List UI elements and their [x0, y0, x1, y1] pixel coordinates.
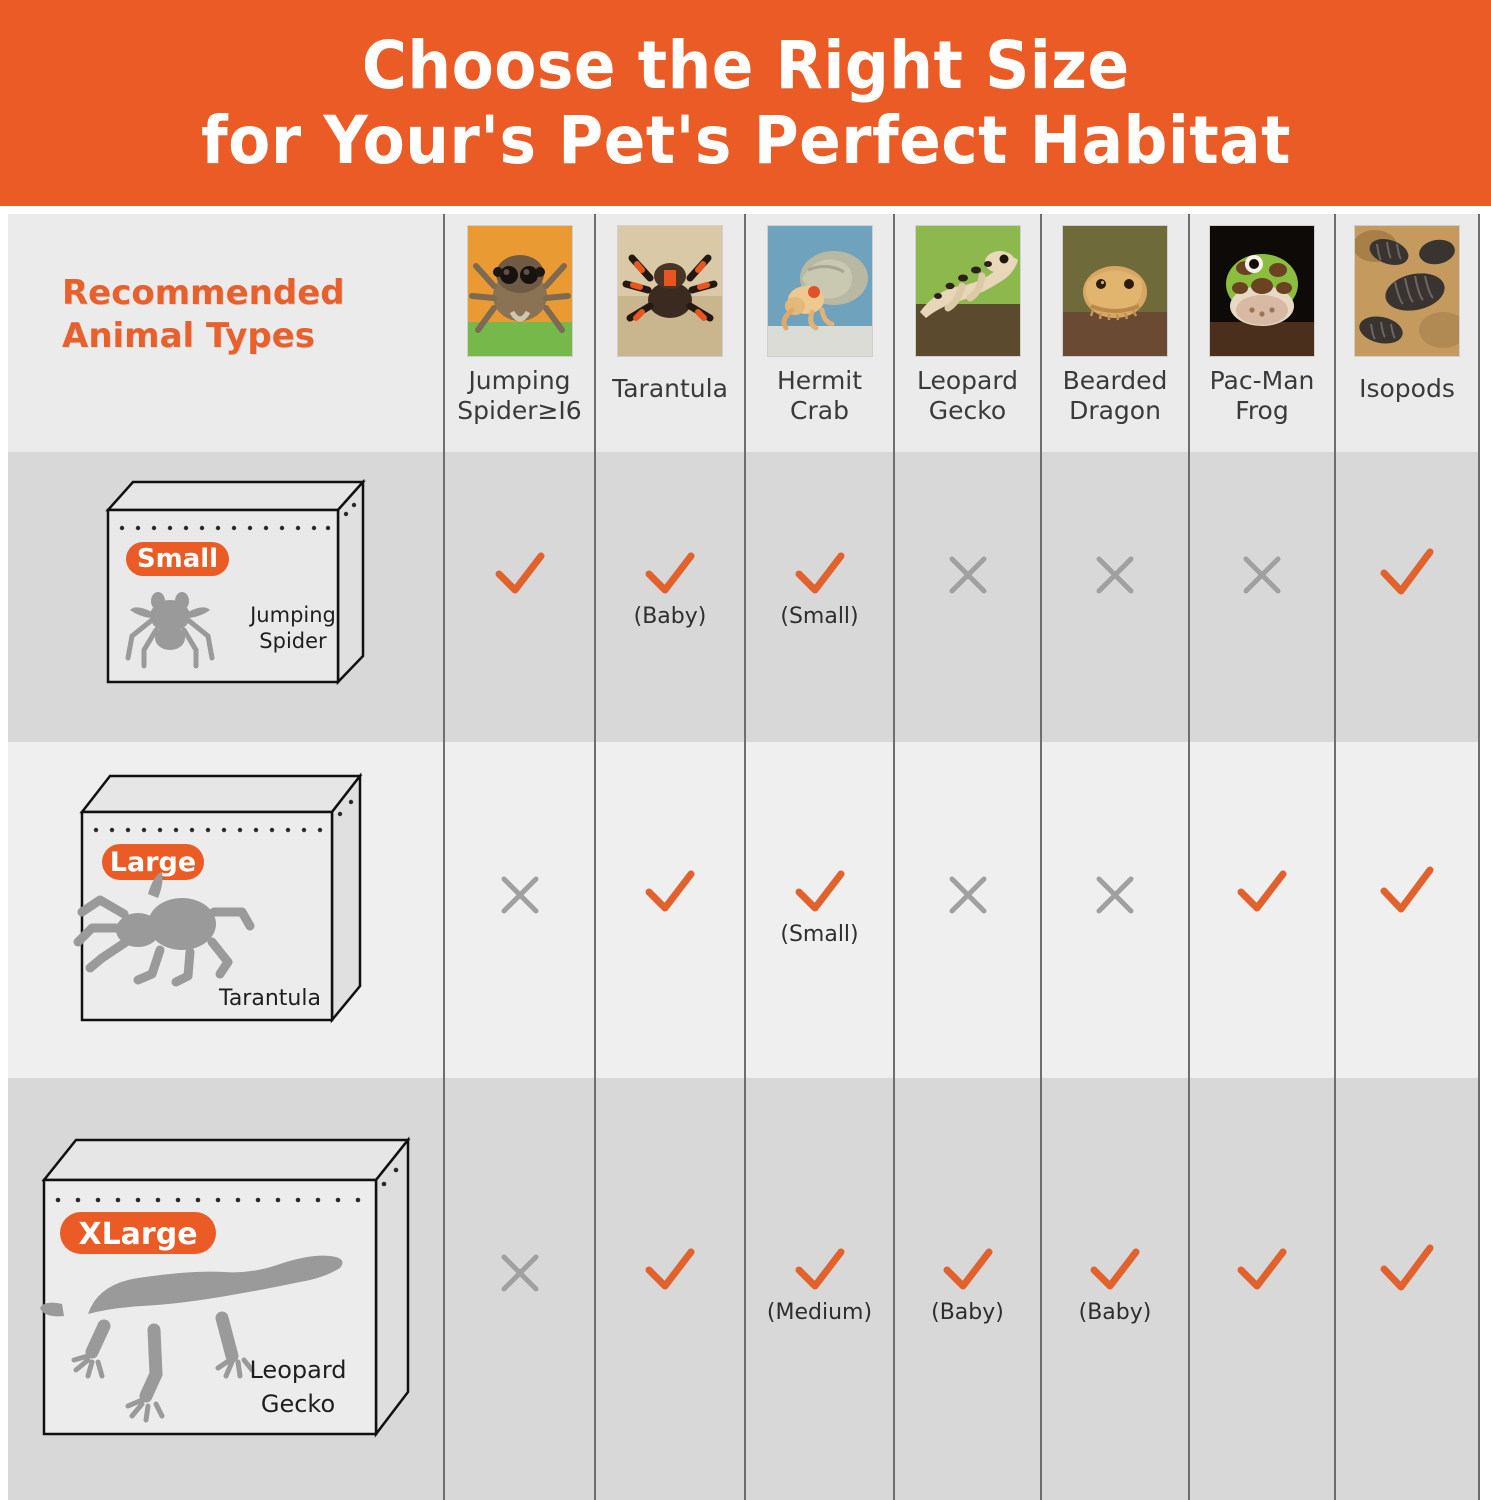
- cell-xlarge-hermit-crab: (Medium): [746, 1244, 893, 1325]
- recommended-animal-types-title: Recommended Animal Types: [62, 272, 392, 357]
- column-separator-1: [443, 214, 445, 1500]
- column-header-leopard-gecko: Leopard Gecko: [895, 214, 1040, 444]
- column-header-isopods: Isopods: [1336, 214, 1478, 444]
- size-badge-xlarge: XLarge: [78, 1217, 197, 1252]
- cell-large-jumping-spider: [445, 872, 594, 922]
- box-animal-label-small-line2: Spider: [259, 629, 327, 653]
- box-animal-label-small-line1: Jumping: [248, 603, 336, 627]
- check-icon: [641, 1244, 699, 1296]
- cross-icon: [1090, 872, 1140, 918]
- cell-small-bearded-dragon: [1042, 552, 1188, 602]
- check-icon: [1233, 866, 1291, 918]
- tarantula-photo: [617, 225, 723, 357]
- check-icon: [1086, 1244, 1144, 1296]
- left-title-line-1: Recommended: [62, 272, 392, 315]
- column-label-jumping-spider: Jumping Spider≥I6: [445, 366, 594, 425]
- cross-icon: [1090, 552, 1140, 598]
- column-separator-3: [744, 214, 746, 1500]
- column-label-leopard-gecko: Leopard Gecko: [895, 366, 1040, 425]
- cell-small-tarantula: (Baby): [596, 548, 744, 629]
- cell-xlarge-bearded-dragon: (Baby): [1042, 1244, 1188, 1325]
- column-separator-2: [594, 214, 596, 1500]
- column-label-pac-man-frog: Pac-Man Frog: [1190, 366, 1334, 425]
- column-separator-4: [893, 214, 895, 1500]
- column-header-hermit-crab: Hermit Crab: [746, 214, 893, 444]
- cell-note: (Baby): [596, 604, 744, 629]
- leopard-gecko-photo: [915, 225, 1021, 357]
- cross-icon: [943, 552, 993, 598]
- cell-note: (Small): [746, 922, 893, 947]
- column-label-isopods: Isopods: [1336, 374, 1478, 404]
- cell-large-leopard-gecko: [895, 872, 1040, 922]
- box-animal-label-xlarge-line1: Leopard: [249, 1356, 346, 1384]
- check-icon: [791, 548, 849, 600]
- column-separator-7: [1334, 214, 1336, 1500]
- hermit-crab-photo: [767, 225, 873, 357]
- check-icon: [939, 1244, 997, 1296]
- banner-title-line-1: Choose the Right Size: [362, 32, 1130, 99]
- column-header-pac-man-frog: Pac-Man Frog: [1190, 214, 1334, 444]
- column-label-bearded-dragon: Bearded Dragon: [1042, 366, 1188, 425]
- cell-large-bearded-dragon: [1042, 872, 1188, 922]
- check-icon: [641, 548, 699, 600]
- cell-small-leopard-gecko: [895, 552, 1040, 602]
- jumping-spider-photo: [467, 225, 573, 357]
- cell-note: (Medium): [746, 1300, 893, 1325]
- cell-large-hermit-crab: (Small): [746, 866, 893, 947]
- check-icon: [1375, 862, 1439, 920]
- check-icon: [791, 866, 849, 918]
- box-animal-label-large: Tarantula: [218, 986, 321, 1011]
- check-icon: [641, 866, 699, 918]
- column-header-tarantula: Tarantula: [596, 214, 744, 444]
- check-icon: [491, 548, 549, 600]
- cell-note: (Baby): [895, 1300, 1040, 1325]
- left-gutter: [0, 206, 8, 1500]
- cell-large-pac-man-frog: [1190, 866, 1334, 922]
- left-title-line-2: Animal Types: [62, 315, 392, 358]
- cell-large-isopods: [1336, 862, 1478, 924]
- isopods-photo: [1354, 225, 1460, 357]
- cell-small-pac-man-frog: [1190, 552, 1334, 602]
- check-icon: [1375, 544, 1439, 602]
- cross-icon: [495, 872, 545, 918]
- box-illustration-small: Small Jumping Spider: [78, 470, 378, 690]
- cross-icon: [495, 1250, 545, 1296]
- column-separator-8: [1478, 214, 1480, 1500]
- box-animal-label-xlarge-line2: Gecko: [261, 1390, 335, 1418]
- cell-small-jumping-spider: [445, 548, 594, 604]
- box-illustration-xlarge: XLarge Leopard Gecko: [26, 1122, 446, 1452]
- column-label-hermit-crab: Hermit Crab: [746, 366, 893, 425]
- column-separator-5: [1040, 214, 1042, 1500]
- column-label-tarantula: Tarantula: [596, 374, 744, 404]
- size-badge-small: Small: [137, 544, 218, 574]
- check-icon: [1375, 1240, 1439, 1298]
- cell-note: (Baby): [1042, 1300, 1188, 1325]
- header-banner: Choose the Right Size for Your's Pet's P…: [0, 0, 1491, 206]
- column-header-bearded-dragon: Bearded Dragon: [1042, 214, 1188, 444]
- cell-small-hermit-crab: (Small): [746, 548, 893, 629]
- size-badge-large: Large: [110, 847, 196, 878]
- column-header-jumping-spider: Jumping Spider≥I6: [445, 214, 594, 444]
- cell-note: (Small): [746, 604, 893, 629]
- cell-large-tarantula: [596, 866, 744, 922]
- bearded-dragon-photo: [1062, 225, 1168, 357]
- pac-man-frog-photo: [1209, 225, 1315, 357]
- cell-xlarge-pac-man-frog: [1190, 1244, 1334, 1300]
- column-separator-6: [1188, 214, 1190, 1500]
- cross-icon: [943, 872, 993, 918]
- size-comparison-infographic: Choose the Right Size for Your's Pet's P…: [0, 0, 1491, 1500]
- cell-xlarge-tarantula: [596, 1244, 744, 1300]
- cell-small-isopods: [1336, 544, 1478, 606]
- cross-icon: [1237, 552, 1287, 598]
- banner-title-line-2: for Your's Pet's Perfect Habitat: [201, 107, 1291, 174]
- cell-xlarge-jumping-spider: [445, 1250, 594, 1300]
- cell-xlarge-leopard-gecko: (Baby): [895, 1244, 1040, 1325]
- cell-xlarge-isopods: [1336, 1240, 1478, 1302]
- box-illustration-large: Large Tarantula: [60, 762, 380, 1032]
- check-icon: [791, 1244, 849, 1296]
- check-icon: [1233, 1244, 1291, 1296]
